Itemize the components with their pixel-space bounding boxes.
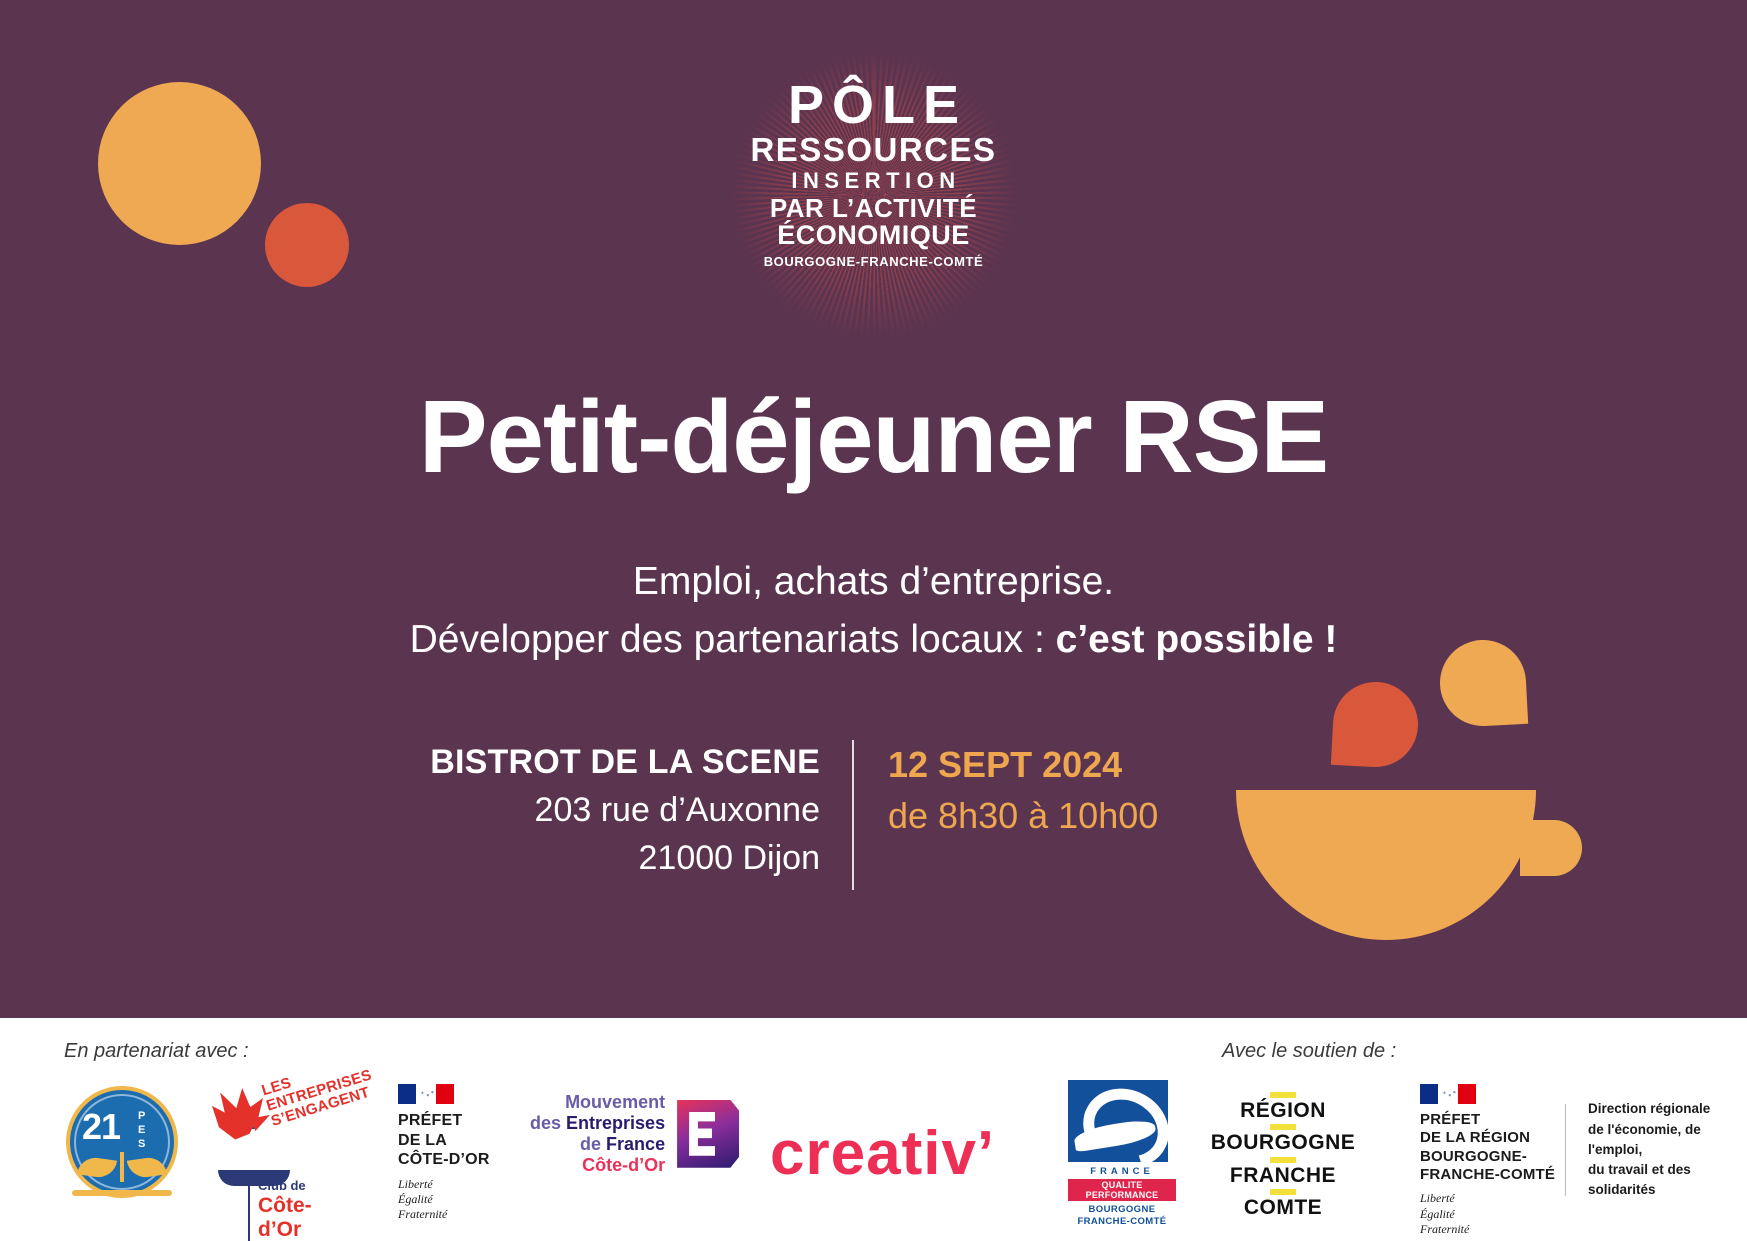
dreets-line-3: du travail et des solidarités (1588, 1160, 1747, 1201)
logo-line-par-activite: PAR L’ACTIVITÉ (750, 195, 996, 221)
region-line-2: BOURGOGNE (1208, 1132, 1358, 1154)
logo-prefet-cote-dor[interactable]: PRÉFET DE LA CÔTE-D’OR Liberté Égalité F… (398, 1084, 490, 1223)
flag-blue-band (1420, 1084, 1438, 1104)
logo-france-qualite-performance[interactable]: FRANCE QUALITE PERFORMANCE BOURGOGNE FRA… (1068, 1080, 1176, 1228)
prefet-bfc-title-line-1: PRÉFET (1420, 1111, 1555, 1129)
pes-letters: PES (138, 1110, 146, 1151)
prefet-bfc-motto-line-1: Liberté (1420, 1191, 1555, 1206)
lee-flame-icon (212, 1088, 270, 1144)
region-line-4: COMTE (1208, 1197, 1358, 1219)
coffee-cup-icon (1340, 630, 1740, 930)
prefet-bfc-motto: Liberté Égalité Fraternité (1420, 1191, 1555, 1237)
pes-stem-icon (120, 1152, 124, 1182)
logo-line-ressources: RESSOURCES (750, 133, 996, 166)
logo-prefet-region-bfc[interactable]: PRÉFET DE LA RÉGION BOURGOGNE- FRANCHE-C… (1420, 1084, 1555, 1237)
prefet-cdo-title: PRÉFET DE LA CÔTE-D’OR (398, 1111, 490, 1170)
logo-line-region: BOURGOGNE-FRANCHE-COMTÉ (750, 255, 996, 268)
dreets-line-2: de l'économie, de l'emploi, (1588, 1120, 1747, 1161)
event-poster: PÔLE RESSOURCES INSERTION PAR L’ACTIVITÉ… (0, 0, 1747, 1241)
flag-red-band (1458, 1084, 1476, 1104)
medef-line-3-light: de (580, 1134, 606, 1154)
fqp-line-franche-comte: FRANCHE-COMTÉ (1068, 1216, 1176, 1228)
flag-white-band (416, 1084, 436, 1104)
logo-line-economique: ÉCONOMIQUE (750, 222, 996, 249)
prefet-cdo-title-line-2: DE LA (398, 1131, 490, 1151)
footer-partners-bar: En partenariat avec : Avec le soutien de… (0, 1018, 1747, 1241)
region-dash-2-icon (1270, 1124, 1296, 1130)
pes-number: 21 (82, 1106, 120, 1148)
partners-label: En partenariat avec : (64, 1040, 249, 1063)
medef-wordmark: Mouvement des Entreprises de France Côte… (530, 1092, 665, 1176)
region-dash-4-icon (1270, 1189, 1296, 1195)
prefet-bfc-title-line-3: BOURGOGNE- (1420, 1148, 1555, 1166)
dreets-text: Direction régionale de l'économie, de l'… (1588, 1099, 1747, 1200)
medef-line-1: Mouvement (530, 1092, 665, 1113)
medef-line-4: Côte-d’Or (530, 1155, 665, 1176)
prefet-cdo-motto: Liberté Égalité Fraternité (398, 1177, 490, 1223)
logo-pes-21[interactable]: 21 PES (66, 1086, 178, 1198)
prefet-bfc-motto-line-2: Égalité (1420, 1207, 1555, 1222)
dreets-line-1: Direction régionale (1588, 1099, 1747, 1119)
medef-line-2-bold: Entreprises (566, 1113, 665, 1133)
prefet-bfc-title: PRÉFET DE LA RÉGION BOURGOGNE- FRANCHE-C… (1420, 1111, 1555, 1184)
region-line-3: FRANCHE (1208, 1165, 1358, 1187)
flag-red-band (436, 1084, 454, 1104)
prefet-bfc-motto-line-3: Fraternité (1420, 1222, 1555, 1237)
page-title: Petit-déjeuner RSE (0, 385, 1747, 488)
logo-les-entreprises-sengagent[interactable]: LES ENTREPRISES S’ENGAGENT Club de Côte-… (212, 1082, 352, 1212)
lee-club-label: Club de (258, 1178, 352, 1194)
priae-logo: PÔLE RESSOURCES INSERTION PAR L’ACTIVITÉ… (0, 78, 1747, 271)
subtitle-line-1: Emploi, achats d’entreprise. (0, 558, 1747, 607)
fqp-emblem-icon (1068, 1080, 1168, 1162)
logo-dreets[interactable]: Direction régionale de l'économie, de l'… (1565, 1104, 1747, 1196)
french-flag-icon (1420, 1084, 1476, 1104)
fqp-line-bourgogne: BOURGOGNE (1068, 1204, 1176, 1216)
venue-block: BISTROT DE LA SCENE 203 rue d’Auxonne 21… (380, 740, 852, 882)
prefet-bfc-title-line-4: FRANCHE-COMTÉ (1420, 1166, 1555, 1184)
cup-bowl-icon (1236, 790, 1536, 940)
logo-medef-cote-dor[interactable]: Mouvement des Entreprises de France Côte… (530, 1092, 739, 1176)
datetime-block: 12 SEPT 2024 de 8h30 à 10h00 (854, 740, 1158, 841)
fqp-line-qualite-performance: QUALITE PERFORMANCE (1068, 1179, 1176, 1201)
poster-main-stage: PÔLE RESSOURCES INSERTION PAR L’ACTIVITÉ… (0, 0, 1747, 1018)
event-date: 12 SEPT 2024 (888, 740, 1158, 790)
venue-street: 203 rue d’Auxonne (380, 786, 820, 834)
fqp-line-france: FRANCE (1068, 1166, 1176, 1177)
medef-line-3-bold: France (606, 1134, 665, 1154)
region-line-1: RÉGION (1208, 1100, 1358, 1122)
flag-white-band (1438, 1084, 1458, 1104)
flag-blue-band (398, 1084, 416, 1104)
french-flag-icon (398, 1084, 454, 1104)
logo-region-bfc[interactable]: RÉGION BOURGOGNE FRANCHE COMTE (1208, 1090, 1358, 1219)
logo-text-block: PÔLE RESSOURCES INSERTION PAR L’ACTIVITÉ… (750, 78, 996, 268)
prefet-cdo-title-line-3: CÔTE-D’OR (398, 1150, 490, 1170)
medef-e-mark-icon (677, 1100, 739, 1168)
prefet-bfc-title-line-2: DE LA RÉGION (1420, 1129, 1555, 1147)
medef-line-3: de France (530, 1134, 665, 1155)
venue-city: 21000 Dijon (380, 834, 820, 882)
logo-creativ[interactable]: creativ’ (770, 1118, 995, 1189)
logo-line-insertion: INSERTION (750, 170, 996, 192)
cup-handle-icon (1520, 820, 1582, 876)
region-dash-1-icon (1270, 1092, 1296, 1098)
venue-name: BISTROT DE LA SCENE (380, 740, 820, 786)
region-dash-3-icon (1270, 1157, 1296, 1163)
pes-ground-icon (72, 1190, 172, 1196)
prefet-cdo-motto-line-3: Fraternité (398, 1207, 490, 1222)
event-time: de 8h30 à 10h00 (888, 790, 1158, 841)
prefet-cdo-motto-line-2: Égalité (398, 1192, 490, 1207)
medef-line-2-light: des (530, 1113, 566, 1133)
steam-drop-orange-icon (1438, 638, 1528, 728)
steam-drop-red-icon (1331, 680, 1420, 769)
subtitle-line-2-normal: Développer des partenariats locaux : (410, 618, 1056, 661)
event-details: BISTROT DE LA SCENE 203 rue d’Auxonne 21… (380, 740, 1280, 890)
logo-line-pole: PÔLE (750, 78, 996, 132)
prefet-cdo-motto-line-1: Liberté (398, 1177, 490, 1192)
lee-wordmark: LES ENTREPRISES S’ENGAGENT (260, 1045, 400, 1129)
fqp-region-lines: BOURGOGNE FRANCHE-COMTÉ (1068, 1204, 1176, 1228)
prefet-cdo-title-line-1: PRÉFET (398, 1111, 490, 1131)
lee-club-block: Club de Côte-d’Or (248, 1178, 352, 1241)
medef-line-2: des Entreprises (530, 1113, 665, 1134)
subtitle-line-2-bold: c’est possible ! (1056, 618, 1338, 661)
support-label: Avec le soutien de : (1222, 1040, 1396, 1063)
lee-club-name: Côte-d’Or (258, 1194, 352, 1241)
